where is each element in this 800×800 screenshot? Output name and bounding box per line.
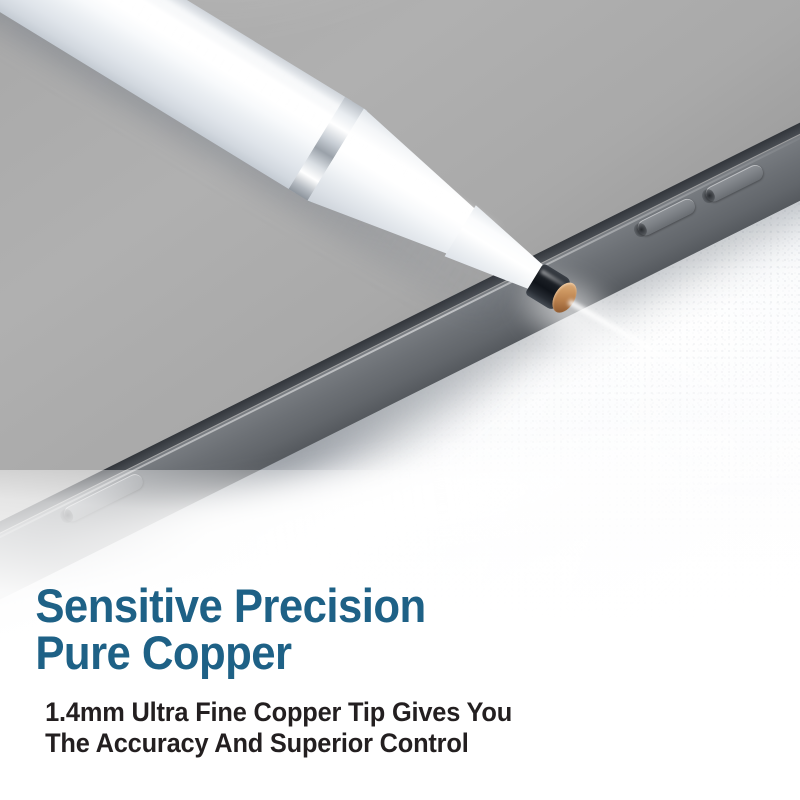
headline-line-1: Sensitive Precision xyxy=(0,582,744,629)
product-marketing-image: Sensitive Precision Pure Copper 1.4mm Ul… xyxy=(0,0,800,800)
caption-block: Sensitive Precision Pure Copper 1.4mm Ul… xyxy=(0,582,800,759)
subline-line-2: The Accuracy And Superior Control xyxy=(0,728,752,759)
caption-spacer xyxy=(0,676,800,697)
subline-line-1: 1.4mm Ultra Fine Copper Tip Gives You xyxy=(0,697,752,728)
headline-line-2: Pure Copper xyxy=(0,629,744,676)
